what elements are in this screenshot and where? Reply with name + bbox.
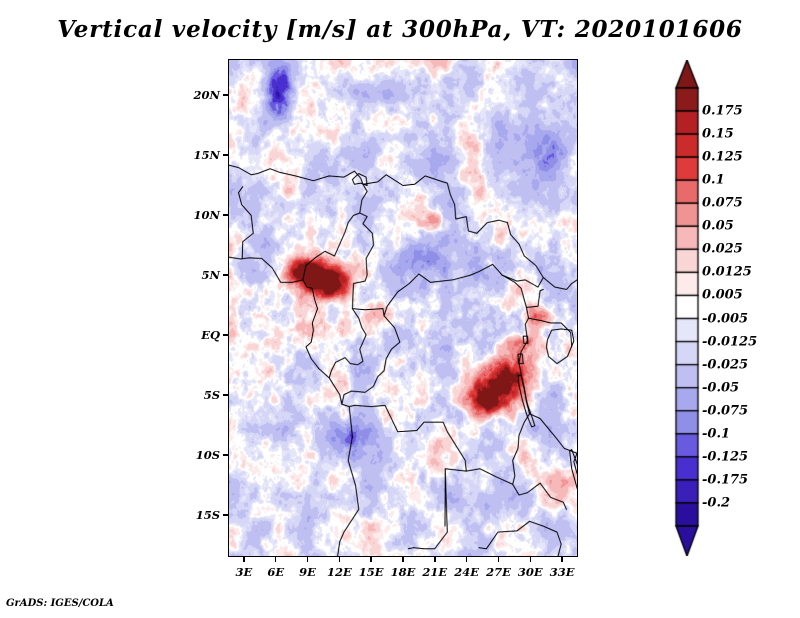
y-axis-tick-label: 10N: [176, 208, 220, 222]
x-axis-tick-label: 27E: [486, 565, 511, 579]
y-axis-tick-mark: [223, 514, 228, 516]
colorbar-tick-label: -0.0125: [702, 334, 757, 349]
x-axis-tick-label: 15E: [359, 565, 384, 579]
colorbar-tick-label: -0.075: [702, 403, 748, 418]
x-axis-tick-mark: [530, 557, 532, 562]
y-axis-tick-label: EQ: [176, 328, 220, 342]
colorbar-tick-label: -0.05: [702, 380, 739, 395]
x-axis-tick-mark: [561, 557, 563, 562]
map-plot-area: [228, 59, 578, 557]
colorbar-gradient: [674, 60, 700, 556]
x-axis-tick-mark: [370, 557, 372, 562]
x-axis-tick-mark: [339, 557, 341, 562]
y-axis-tick-label: 15N: [176, 148, 220, 162]
x-axis-tick-mark: [466, 557, 468, 562]
y-axis-tick-label: 5N: [176, 268, 220, 282]
colorbar: 0.1750.150.1250.10.0750.050.0250.01250.0…: [674, 60, 794, 556]
colorbar-tick-label: 0.15: [702, 127, 734, 142]
y-axis-tick-mark: [223, 454, 228, 456]
colorbar-tick-label: 0.05: [702, 219, 734, 234]
x-axis-tick-mark: [275, 557, 277, 562]
x-axis-tick-mark: [307, 557, 309, 562]
y-axis-tick-mark: [223, 154, 228, 156]
country-borders-overlay: [229, 60, 577, 556]
colorbar-tick-label: -0.2: [702, 495, 730, 510]
x-axis-tick-label: 18E: [391, 565, 416, 579]
y-axis-tick-mark: [223, 94, 228, 96]
y-axis-tick-label: 10S: [176, 448, 220, 462]
footer-credit: GrADS: IGES/COLA: [6, 598, 114, 609]
page-title: Vertical velocity [m/s] at 300hPa, VT: 2…: [0, 16, 800, 43]
colorbar-tick-label: 0.0125: [702, 265, 752, 280]
colorbar-tick-label: 0.1: [702, 173, 725, 188]
colorbar-tick-label: -0.005: [702, 311, 748, 326]
x-axis-tick-mark: [402, 557, 404, 562]
colorbar-tick-label: 0.025: [702, 242, 743, 257]
x-axis-tick-label: 21E: [422, 565, 447, 579]
y-axis-tick-label: 15S: [176, 508, 220, 522]
y-axis-tick-mark: [223, 394, 228, 396]
colorbar-tick-label: 0.075: [702, 196, 743, 211]
x-axis-tick-label: 24E: [454, 565, 479, 579]
colorbar-tick-label: -0.175: [702, 472, 748, 487]
x-axis-tick-mark: [434, 557, 436, 562]
colorbar-tick-label: 0.005: [702, 288, 743, 303]
colorbar-tick-label: -0.1: [702, 426, 730, 441]
y-axis-tick-label: 5S: [176, 388, 220, 402]
x-axis-tick-label: 30E: [518, 565, 543, 579]
colorbar-tick-label: -0.125: [702, 449, 748, 464]
y-axis-tick-label: 20N: [176, 88, 220, 102]
x-axis-tick-label: 12E: [327, 565, 352, 579]
colorbar-tick-label: -0.025: [702, 357, 748, 372]
x-axis-tick-label: 9E: [299, 565, 316, 579]
x-axis-tick-mark: [243, 557, 245, 562]
colorbar-tick-label: 0.175: [702, 104, 743, 119]
colorbar-tick-label: 0.125: [702, 150, 743, 165]
x-axis-tick-label: 6E: [267, 565, 284, 579]
y-axis-tick-mark: [223, 274, 228, 276]
y-axis-tick-mark: [223, 334, 228, 336]
x-axis-tick-label: 33E: [550, 565, 575, 579]
x-axis-tick-mark: [498, 557, 500, 562]
x-axis-tick-label: 3E: [236, 565, 253, 579]
y-axis-tick-mark: [223, 214, 228, 216]
